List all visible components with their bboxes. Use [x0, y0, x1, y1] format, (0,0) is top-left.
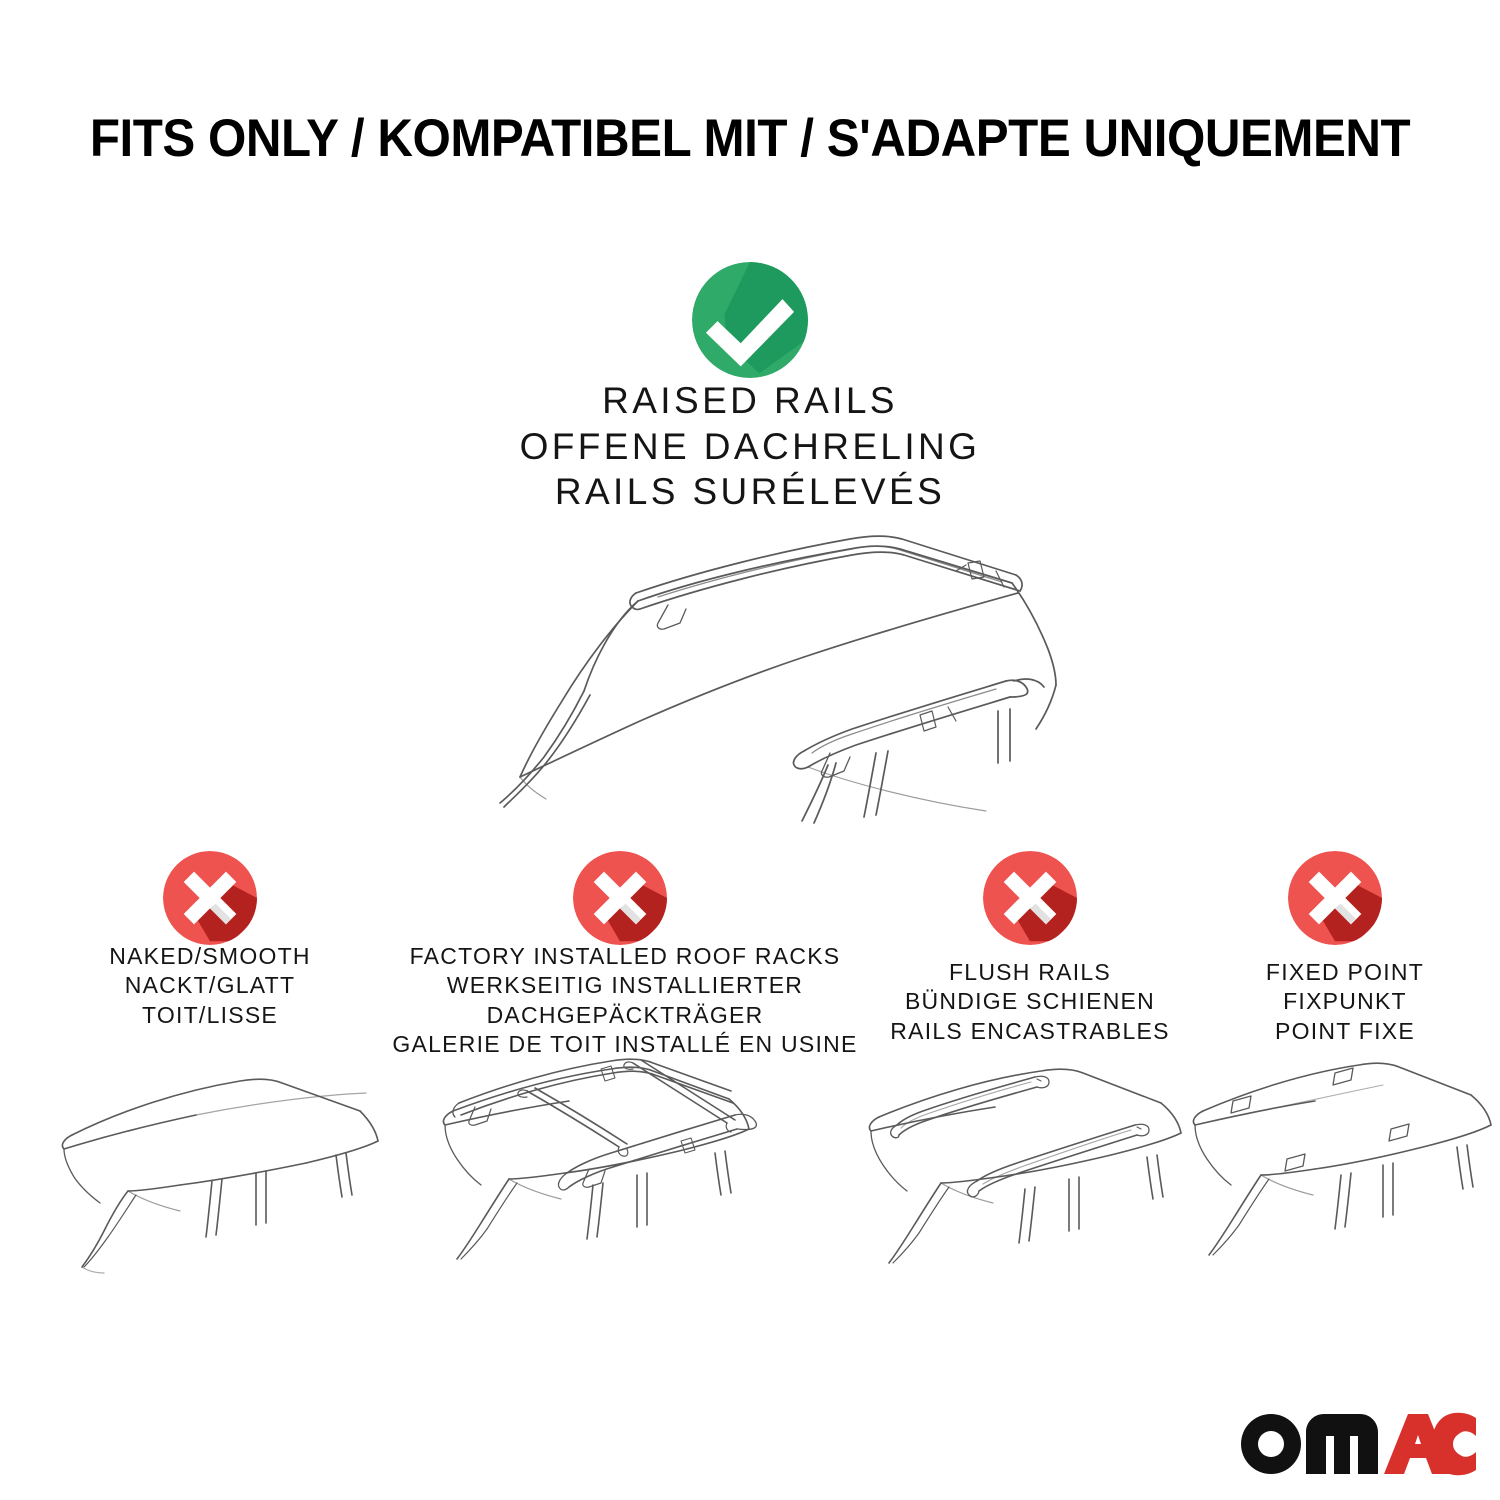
car-roof-fixed-point-illustration [1175, 1055, 1500, 1285]
x-circle-icon [1288, 851, 1382, 945]
incompatible-label-naked-smooth: NAKED/SMOOTH NACKT/GLATT TOIT/LISSE [20, 942, 400, 1030]
incompatible-label-factory-racks: FACTORY INSTALLED ROOF RACKS WERKSEITIG … [390, 942, 860, 1060]
infographic-canvas: FITS ONLY / KOMPATIBEL MIT / S'ADAPTE UN… [0, 0, 1500, 1500]
x-circle-icon [983, 851, 1077, 945]
incompatible-label-flush-rails: FLUSH RAILS BÜNDIGE SCHIENEN RAILS ENCAS… [855, 958, 1205, 1046]
car-roof-factory-racks-illustration [405, 1055, 805, 1285]
page-title: FITS ONLY / KOMPATIBEL MIT / S'ADAPTE UN… [53, 108, 1448, 169]
car-roof-raised-rails-illustration [400, 505, 1100, 835]
compatible-label: RAISED RAILS OFFENE DACHRELING RAILS SUR… [350, 378, 1150, 515]
car-roof-naked-smooth-illustration [30, 1055, 430, 1285]
incompatible-label-fixed-point: FIXED POINT FIXPUNKT POINT FIXE [1210, 958, 1480, 1046]
x-circle-icon [163, 851, 257, 945]
x-circle-icon [573, 851, 667, 945]
omac-logo [1238, 1406, 1476, 1478]
check-circle-icon [692, 262, 808, 378]
